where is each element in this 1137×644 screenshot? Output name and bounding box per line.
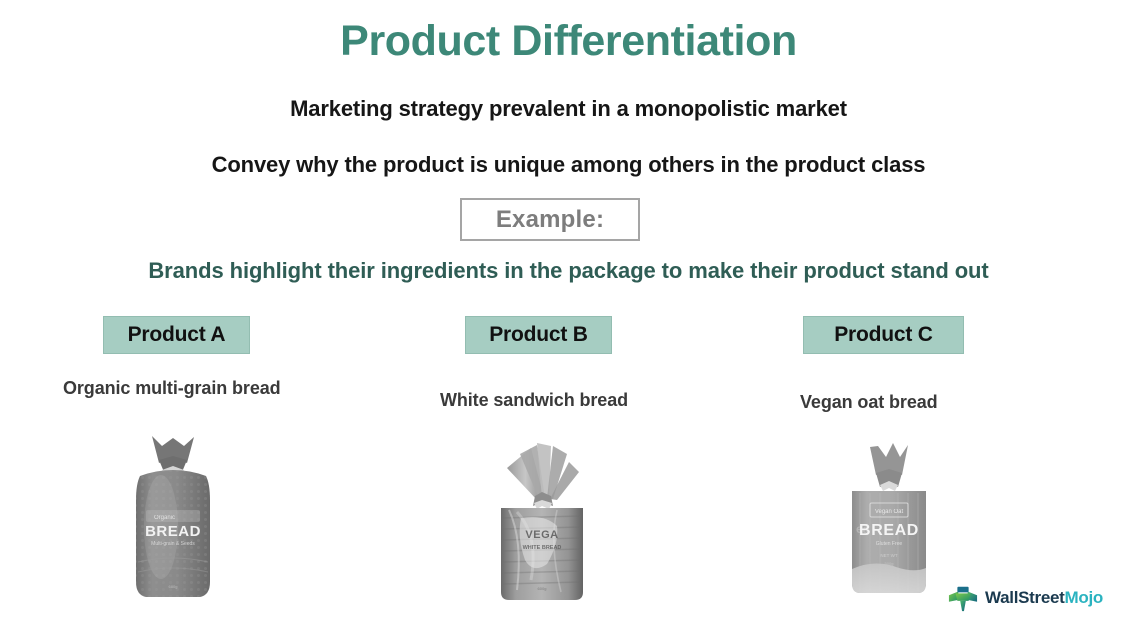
- logo-text-primary: WallStreet: [985, 588, 1065, 607]
- svg-text:WHITE BREAD: WHITE BREAD: [523, 545, 562, 551]
- slide-canvas: Product Differentiation Marketing strate…: [0, 0, 1137, 644]
- svg-text:Vegan Oat: Vegan Oat: [875, 509, 904, 515]
- product-chip-c: Product C: [803, 316, 964, 354]
- svg-text:NET WT: NET WT: [880, 553, 897, 558]
- highlight-statement: Brands highlight their ingredients in th…: [0, 258, 1137, 284]
- example-box: Example:: [460, 198, 640, 241]
- svg-text:600g: 600g: [538, 586, 547, 591]
- bread-package-image-a: Organic BREAD Multi-grain & Seeds 680g: [118, 432, 228, 607]
- svg-text:680g: 680g: [169, 584, 178, 589]
- svg-text:Organic: Organic: [154, 515, 175, 521]
- wallstreetmojo-mark-icon: [948, 583, 978, 613]
- bread-package-image-b: VEGA WHITE BREAD 600g: [487, 440, 597, 613]
- wallstreetmojo-wordmark: WallStreetMojo: [985, 588, 1103, 608]
- product-chip-a: Product A: [103, 316, 250, 354]
- bread-package-image-c: ea Vegan Oat BREAD Gluten Free NET WT 50…: [834, 441, 944, 610]
- svg-text:500g: 500g: [885, 561, 894, 566]
- product-chip-a-label: Product A: [128, 323, 226, 347]
- subtitle-line-2: Convey why the product is unique among o…: [0, 152, 1137, 178]
- page-title: Product Differentiation: [0, 18, 1137, 64]
- product-description-b: White sandwich bread: [440, 390, 628, 411]
- product-chip-b-label: Product B: [489, 323, 588, 347]
- product-chip-c-label: Product C: [834, 323, 933, 347]
- subtitle-line-1: Marketing strategy prevalent in a monopo…: [0, 96, 1137, 122]
- svg-text:Gluten Free: Gluten Free: [876, 541, 903, 547]
- svg-text:Multi-grain & Seeds: Multi-grain & Seeds: [151, 541, 195, 547]
- logo-text-secondary: Mojo: [1065, 588, 1103, 607]
- product-chip-b: Product B: [465, 316, 612, 354]
- wallstreetmojo-logo: WallStreetMojo: [948, 583, 1103, 613]
- product-description-a: Organic multi-grain bread: [63, 378, 281, 399]
- svg-text:VEGA: VEGA: [525, 529, 558, 541]
- svg-text:BREAD: BREAD: [859, 522, 919, 539]
- svg-text:BREAD: BREAD: [145, 523, 201, 540]
- example-label: Example:: [496, 206, 604, 234]
- product-description-c: Vegan oat bread: [800, 392, 938, 413]
